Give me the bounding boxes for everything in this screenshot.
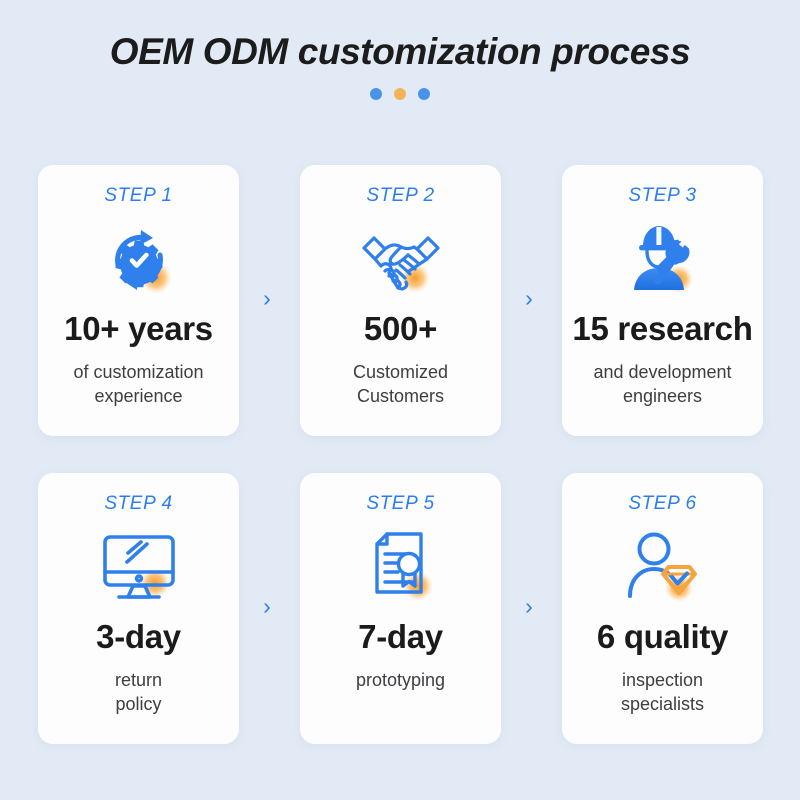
chevron-row1-1: › [258, 285, 276, 311]
step-label-1: STEP 1 [104, 185, 172, 208]
step-label-2: STEP 2 [366, 185, 434, 208]
gear-check-refresh-icon [93, 216, 185, 304]
description-3-line1: and development [593, 360, 731, 384]
step-card-1[interactable]: STEP 1 [38, 165, 239, 436]
headline-4: 3-day [96, 618, 181, 656]
chevron-row1-2: › [520, 285, 538, 311]
headline-6: 6 quality [597, 618, 728, 656]
headline-2: 500+ [364, 310, 437, 348]
description-4-line1: return [115, 668, 162, 692]
description-6-line2: specialists [621, 692, 704, 716]
description-5-line1: prototyping [356, 668, 445, 692]
dot-blue-right [418, 88, 430, 100]
step-label-3: STEP 3 [628, 185, 696, 208]
description-2: Customized Customers [353, 360, 448, 409]
dot-orange-middle [394, 88, 406, 100]
description-3: and development engineers [593, 360, 731, 409]
infographic-page: OEM ODM customization process STEP 1 [0, 0, 800, 800]
steps-grid: STEP 1 [38, 165, 764, 744]
description-1: of customization experience [73, 360, 203, 409]
description-4: return policy [115, 668, 162, 717]
engineer-hardhat-wrench-icon [617, 216, 709, 304]
step-label-4: STEP 4 [104, 493, 172, 516]
decorative-dots [0, 88, 800, 100]
description-5: prototyping [356, 668, 445, 692]
description-4-line2: policy [115, 692, 162, 716]
description-1-line2: experience [73, 384, 203, 408]
description-2-line1: Customized [353, 360, 448, 384]
page-title: OEM ODM customization process [0, 30, 800, 74]
person-quality-badge-icon [617, 524, 709, 612]
step-card-2[interactable]: STEP 2 [300, 165, 501, 436]
description-6: inspection specialists [621, 668, 704, 717]
dot-blue-left [370, 88, 382, 100]
step-card-5[interactable]: STEP 5 [300, 473, 501, 744]
step-card-3[interactable]: STEP 3 [562, 165, 763, 436]
step-label-5: STEP 5 [366, 493, 434, 516]
handshake-icon [355, 216, 447, 304]
header: OEM ODM customization process [0, 0, 800, 100]
chevron-row2-1: › [258, 593, 276, 619]
step-card-4[interactable]: STEP 4 [38, 473, 239, 744]
description-2-line2: Customers [353, 384, 448, 408]
step-card-6[interactable]: STEP 6 [562, 473, 763, 744]
step-label-6: STEP 6 [628, 493, 696, 516]
desktop-monitor-icon [93, 524, 185, 612]
headline-1: 10+ years [64, 310, 213, 348]
description-6-line1: inspection [621, 668, 704, 692]
description-1-line1: of customization [73, 360, 203, 384]
description-3-line2: engineers [593, 384, 731, 408]
headline-3: 15 research [572, 310, 752, 348]
headline-5: 7-day [358, 618, 443, 656]
chevron-row2-2: › [520, 593, 538, 619]
certificate-document-seal-icon [355, 524, 447, 612]
